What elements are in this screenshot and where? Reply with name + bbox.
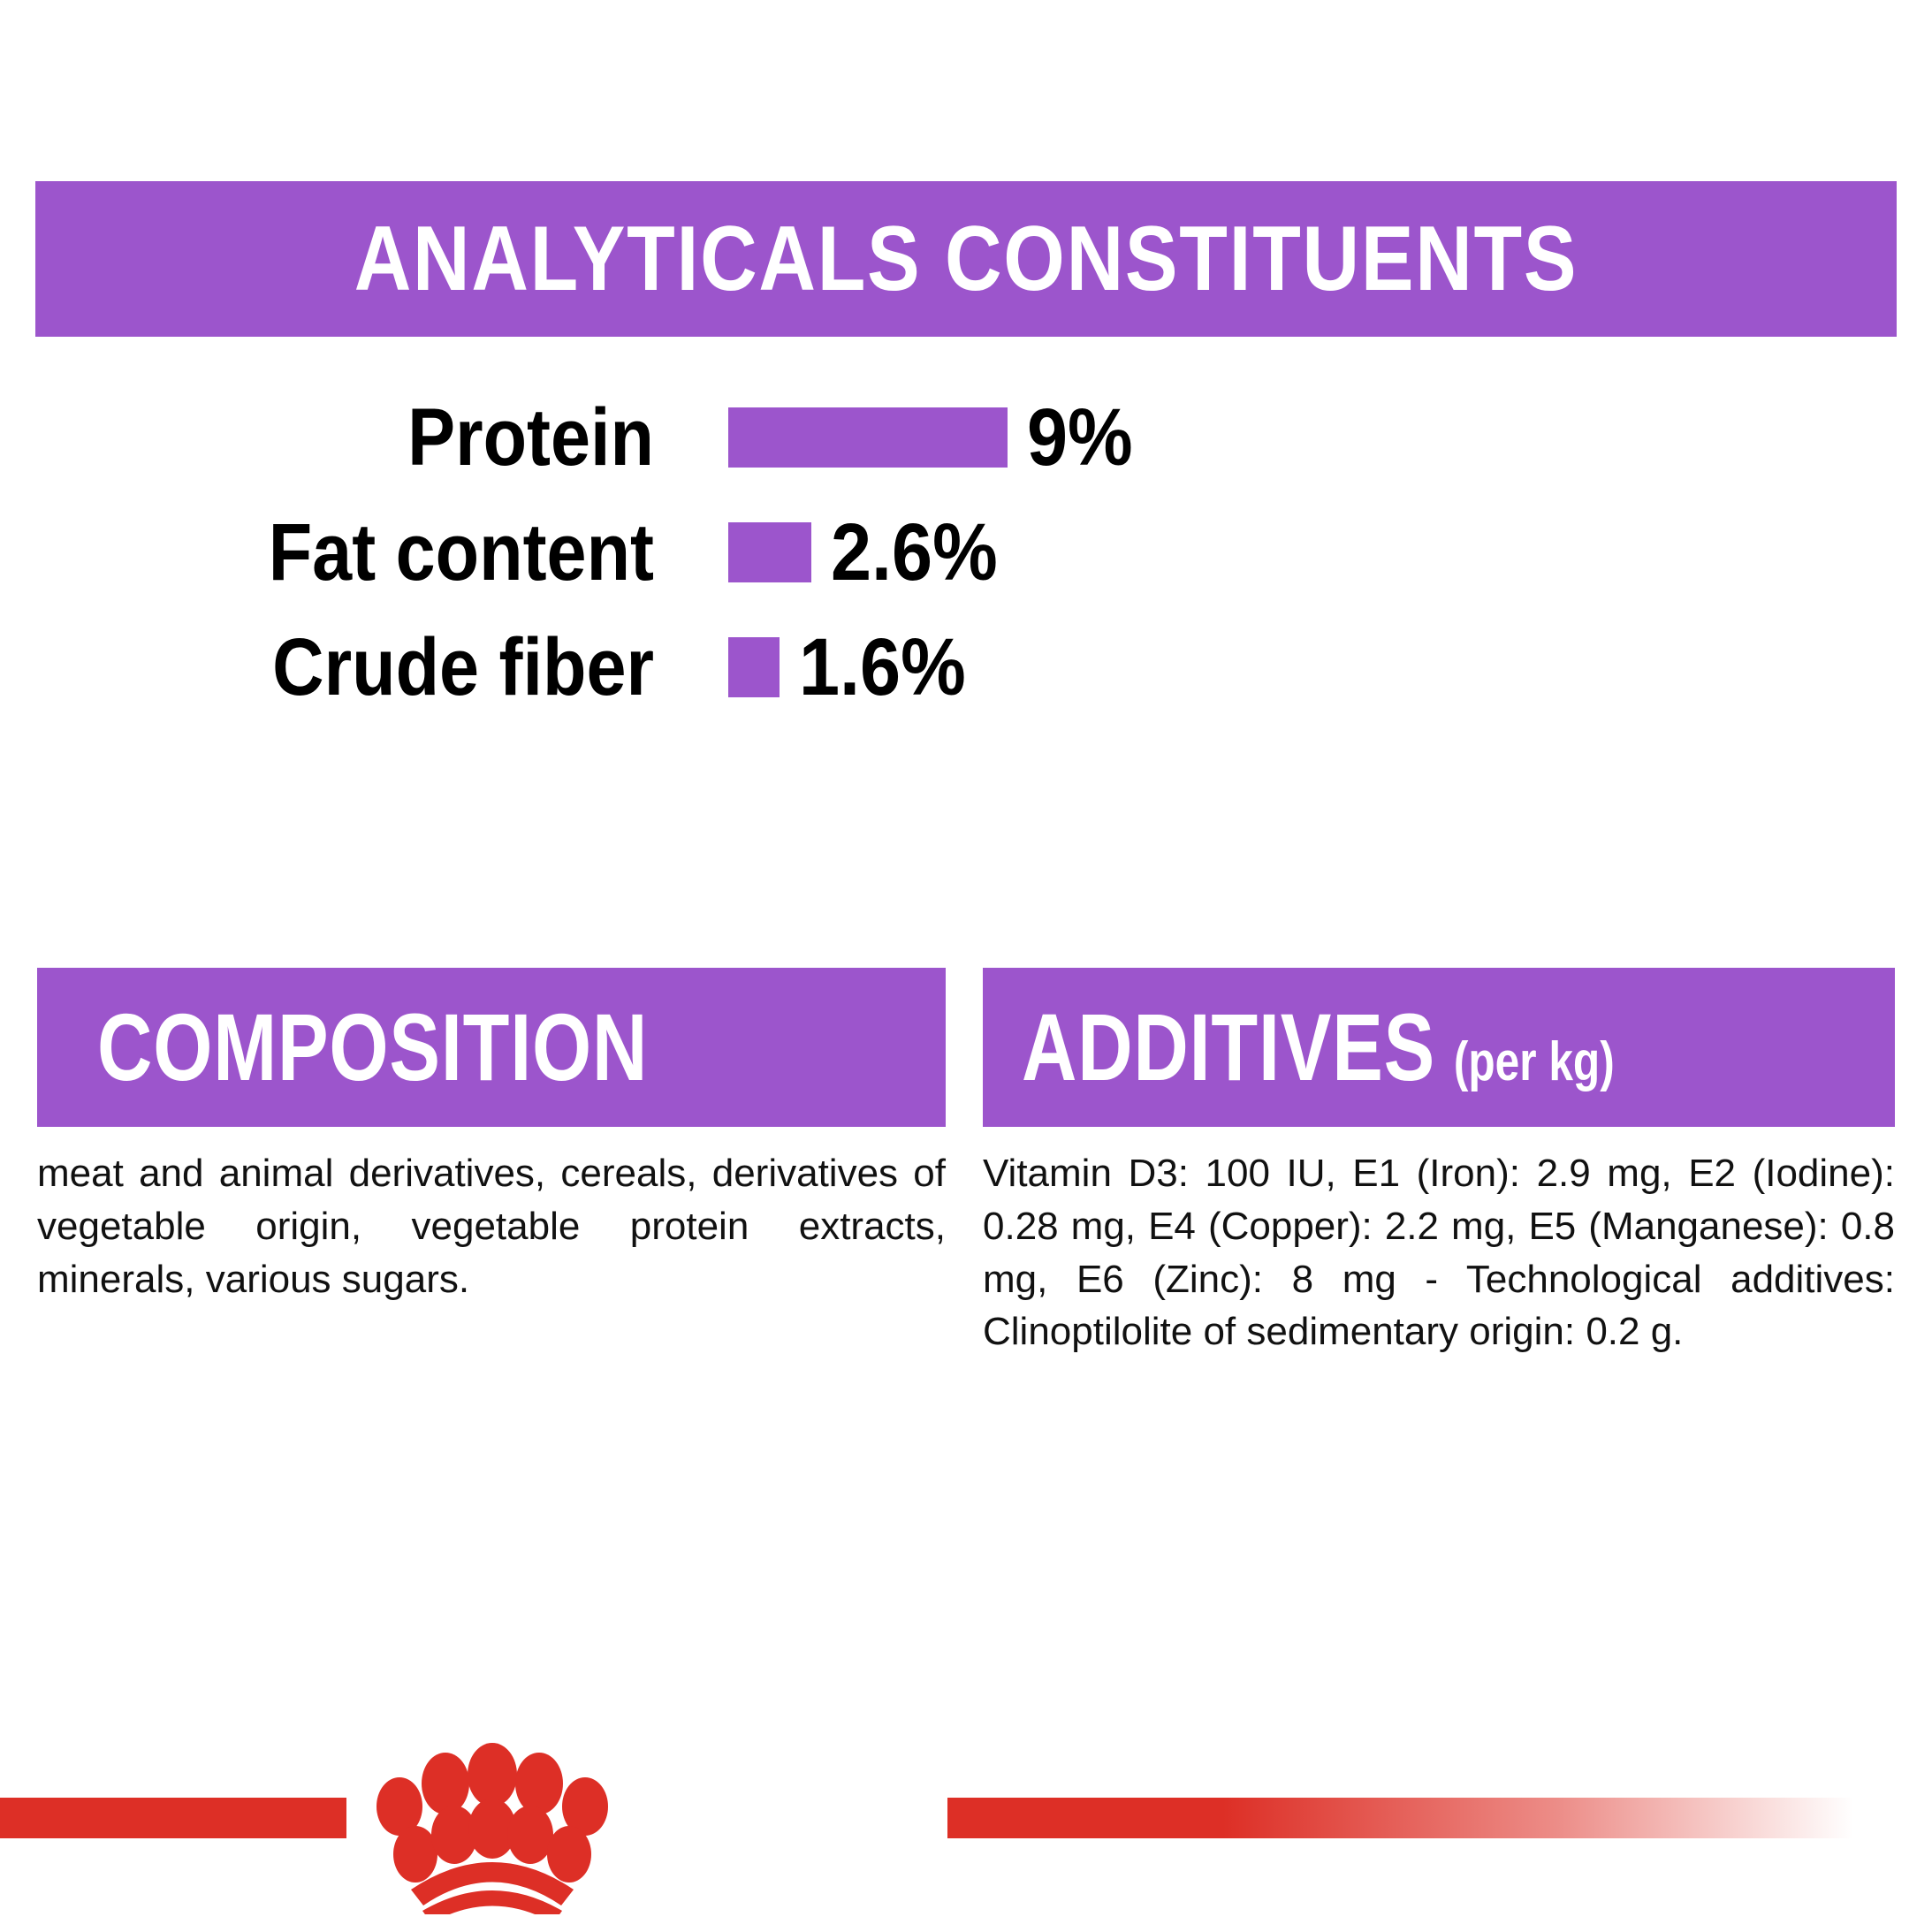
constituent-label-protein: Protein — [79, 397, 654, 478]
additives-header: ADDITIVES (per kg) — [983, 968, 1895, 1127]
constituent-label-crude-fiber: Crude fiber — [79, 627, 654, 708]
brand-footer — [0, 1685, 1932, 1932]
analyticals-constituents-header: ANALYTICALS CONSTITUENTS — [35, 181, 1897, 337]
constituent-row-protein: Protein 9% — [0, 380, 1932, 495]
additives-body-text: Vitamin D3: 100 IU, E1 (Iron): 2.9 mg, E… — [983, 1147, 1895, 1358]
constituent-row-fat-content: Fat content 2.6% — [0, 495, 1932, 610]
additives-title-unit: (per kg) — [1454, 1035, 1615, 1090]
composition-header: COMPOSITION — [37, 968, 946, 1127]
additives-title-row: ADDITIVES (per kg) — [1022, 1000, 1615, 1095]
constituent-value-protein: 9% — [1027, 397, 1133, 478]
footer-rule-left — [0, 1798, 346, 1838]
constituent-row-crude-fiber: Crude fiber 1.6% — [0, 610, 1932, 725]
analyticals-constituents-chart: Protein 9% Fat content 2.6% Crude fiber … — [0, 380, 1932, 725]
royal-canin-crown-icon — [346, 1702, 638, 1914]
product-label-panel: ANALYTICALS CONSTITUENTS Protein 9% Fat … — [0, 0, 1932, 1932]
constituent-value-crude-fiber: 1.6% — [799, 627, 966, 708]
constituent-label-fat-content: Fat content — [79, 512, 654, 593]
analyticals-constituents-title: ANALYTICALS CONSTITUENTS — [354, 213, 1578, 305]
constituent-value-fat-content: 2.6% — [831, 512, 998, 593]
footer-rule-right — [947, 1798, 1932, 1838]
composition-title: COMPOSITION — [97, 1000, 648, 1095]
additives-title: ADDITIVES — [1022, 1000, 1435, 1095]
composition-body-text: meat and animal derivatives, cereals, de… — [37, 1147, 946, 1305]
constituent-bar-crude-fiber — [728, 637, 780, 697]
constituent-bar-fat-content — [728, 522, 811, 582]
constituent-bar-protein — [728, 407, 1008, 468]
